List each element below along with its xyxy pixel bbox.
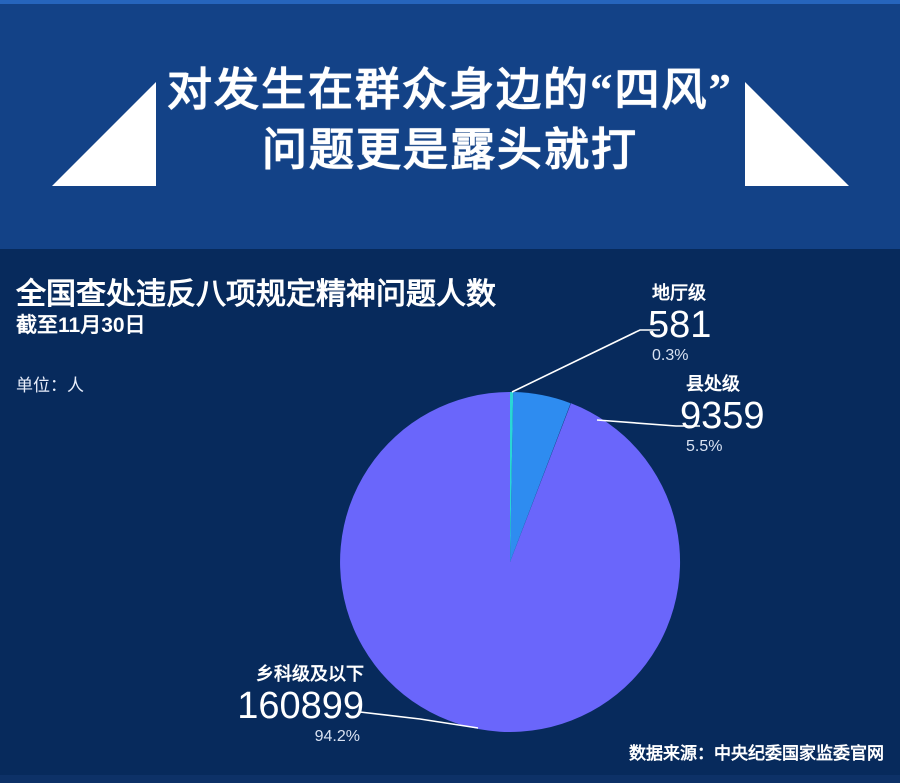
header-banner: 对发生在群众身边的“四风” 问题更是露头就打 (0, 4, 900, 249)
callout-xianchuji-category: 县处级 (680, 373, 765, 395)
callout-xianchuji: 县处级 9359 5.5% (680, 373, 765, 457)
callout-ditingji-category: 地厅级 (648, 282, 711, 304)
callout-ditingji-value: 581 (648, 304, 711, 346)
data-source-label: 数据来源：中央纪委国家监委官网 (0, 739, 884, 764)
callout-xiangkeji-value: 160899 (212, 685, 364, 727)
banner-headline: 对发生在群众身边的“四风” 问题更是露头就打 (0, 60, 900, 180)
callout-xiangkeji: 乡科级及以下 160899 94.2% (212, 663, 364, 747)
callout-ditingji-percent: 0.3% (648, 346, 711, 366)
callout-ditingji: 地厅级 581 0.3% (648, 282, 711, 366)
callout-xianchuji-percent: 5.5% (680, 437, 765, 457)
callout-xianchuji-value: 9359 (680, 395, 765, 437)
callout-xiangkeji-category: 乡科级及以下 (212, 663, 364, 685)
leader-line-ditingji (512, 330, 660, 392)
pie-chart (0, 249, 900, 775)
bottom-accent-strip (0, 775, 900, 783)
chart-panel: 全国查处违反八项规定精神问题人数 截至11月30日 单位：人 地厅级 581 0… (0, 249, 900, 775)
